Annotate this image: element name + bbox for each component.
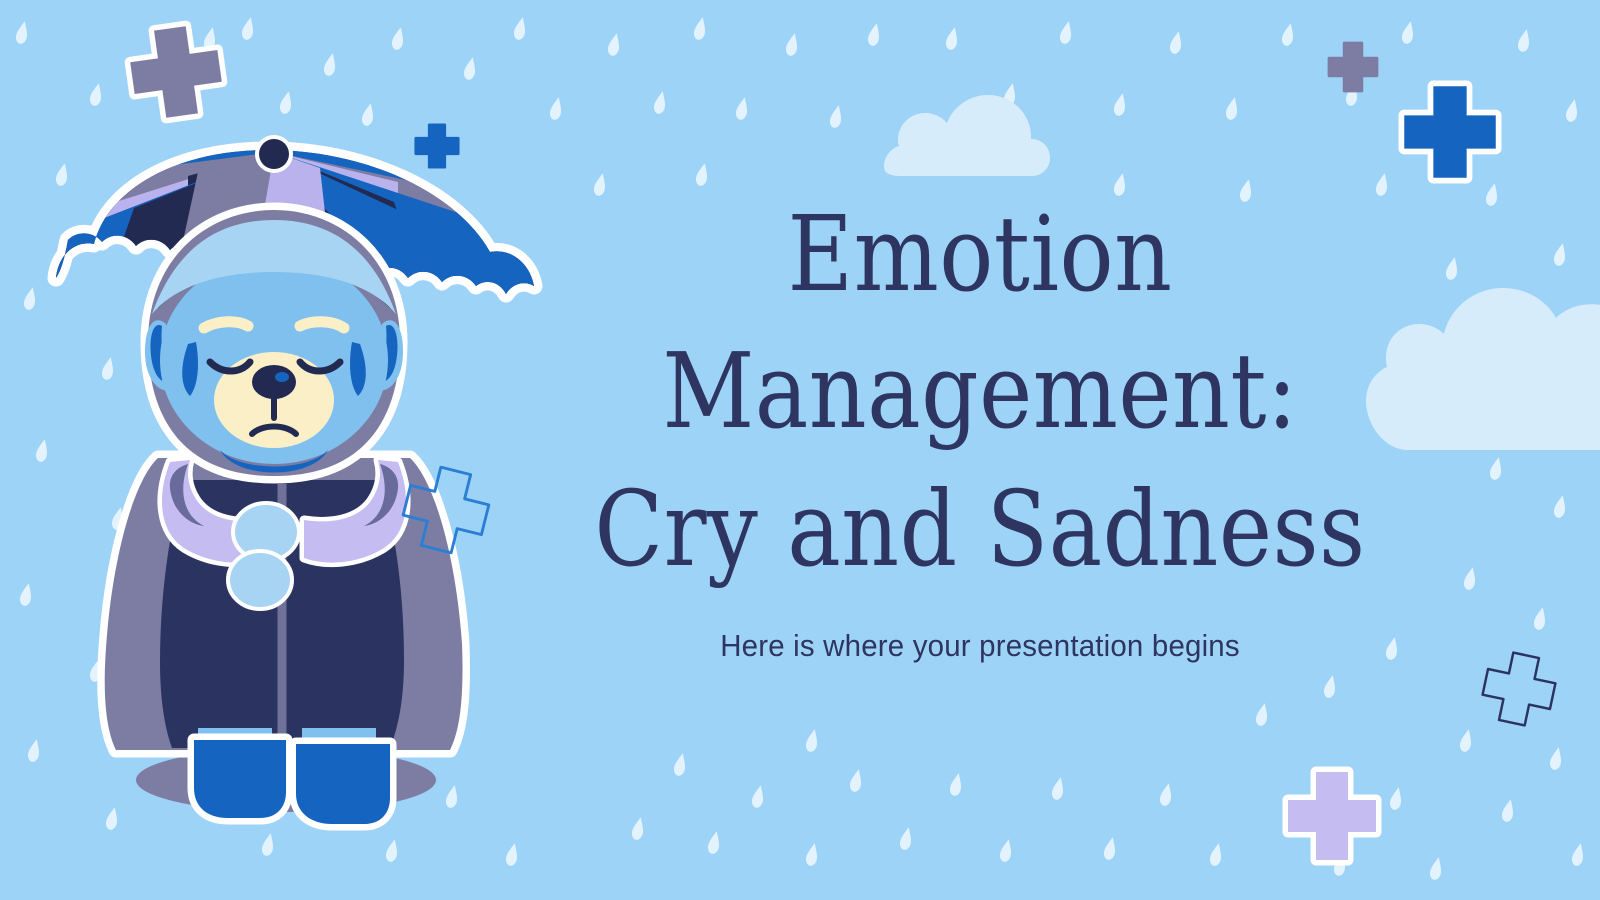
cloud-top-center (884, 95, 1050, 176)
title-line-2: Management: (558, 323, 1403, 460)
title-line-3: Cry and Sadness (558, 461, 1403, 598)
page-title: Emotion Management: Cry and Sadness (558, 186, 1403, 598)
cross-top-left-purple (126, 22, 226, 122)
cross-top-left-blue (413, 122, 461, 170)
sad-bear-with-umbrella-illustration (38, 128, 578, 828)
cross-mid-left-outline (398, 462, 494, 558)
bear-eyebrow-left (204, 322, 248, 328)
cross-bottom-right-outline (1478, 648, 1560, 730)
bear-paws (230, 505, 297, 607)
bear-nose (252, 365, 296, 399)
cross-bottom-lavender (1282, 766, 1382, 866)
title-line-1: Emotion (558, 186, 1403, 323)
title-slide: Emotion Management: Cry and Sadness Here… (0, 0, 1600, 900)
title-text-block: Emotion Management: Cry and Sadness Here… (540, 186, 1420, 664)
subtitle: Here is where your presentation begins (562, 628, 1398, 664)
cross-top-right-blue (1398, 80, 1502, 184)
bear-eyebrow-right (300, 322, 344, 328)
umbrella-finial (259, 139, 289, 169)
cross-top-right-gray (1326, 40, 1380, 94)
